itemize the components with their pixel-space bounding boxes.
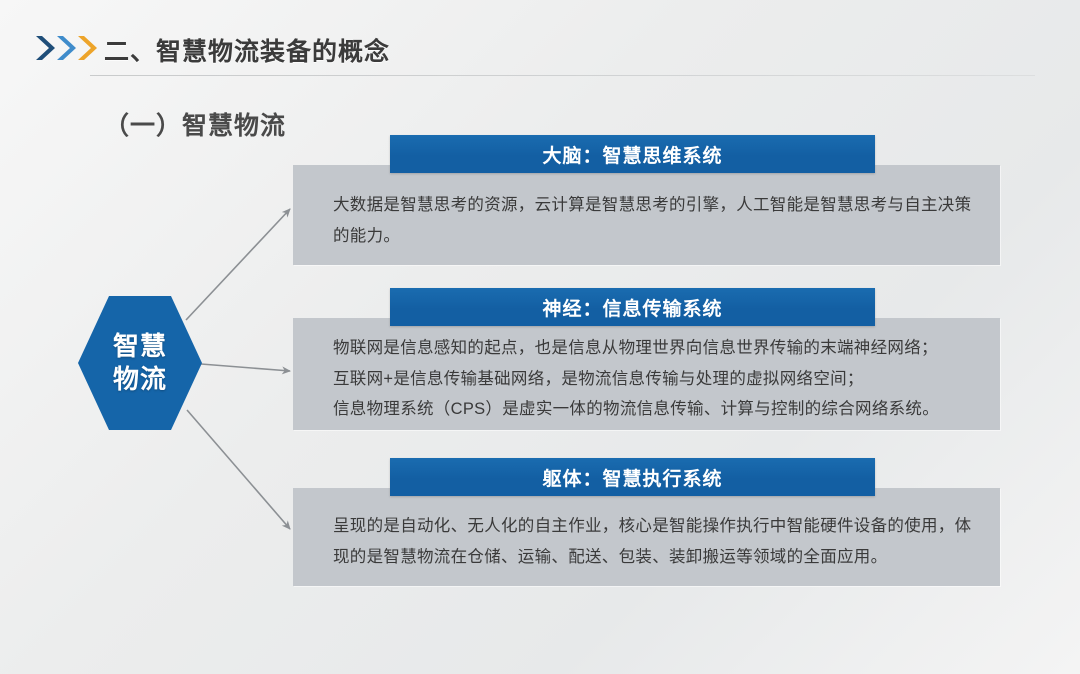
panel-header-title[interactable]: 神经：信息传输系统 xyxy=(390,288,875,326)
header-divider xyxy=(90,75,1035,76)
panel-description: 物联网是信息感知的起点，也是信息从物理世界向信息世界传输的末端神经网络； 互联网… xyxy=(333,333,993,425)
panel-header-title[interactable]: 躯体：智慧执行系统 xyxy=(390,458,875,496)
slide-header: 二、智慧物流装备的概念 xyxy=(0,0,1080,90)
chevron-group-icon xyxy=(34,34,100,62)
hexagon-label-line1: 智慧 xyxy=(113,330,167,363)
hexagon-node[interactable]: 智慧 物流 xyxy=(78,296,202,430)
hexagon-label: 智慧 物流 xyxy=(78,296,202,430)
panel-header-title[interactable]: 大脑：智慧思维系统 xyxy=(390,135,875,173)
section-subtitle: （一）智慧物流 xyxy=(104,106,286,142)
chevron-right-icon-2 xyxy=(55,34,77,62)
hexagon-label-line2: 物流 xyxy=(113,363,167,396)
chevron-right-icon-3 xyxy=(76,34,98,62)
slide-canvas: 二、智慧物流装备的概念 （一）智慧物流 智慧 物流 大脑：智慧思维系统 大数据是… xyxy=(0,0,1080,674)
chevron-right-icon-1 xyxy=(34,34,56,62)
arrow-to-panel-2 xyxy=(201,364,290,371)
panel-text-line: 互联网+是信息传输基础网络，是物流信息传输与处理的虚拟网络空间； xyxy=(333,364,993,395)
panel-text-line: 呈现的是自动化、无人化的自主作业，核心是智能操作执行中智能硬件设备的使用，体现的… xyxy=(333,511,988,572)
panel-description: 大数据是智慧思考的资源，云计算是智慧思考的引擎，人工智能是智慧思考与自主决策的能… xyxy=(333,190,983,251)
panel-text-line: 物联网是信息感知的起点，也是信息从物理世界向信息世界传输的末端神经网络； xyxy=(333,333,993,364)
arrow-to-panel-3 xyxy=(187,410,290,529)
panel-text-line: 大数据是智慧思考的资源，云计算是智慧思考的引擎，人工智能是智慧思考与自主决策的能… xyxy=(333,190,983,251)
panel-text-line: 信息物理系统（CPS）是虚实一体的物流信息传输、计算与控制的综合网络系统。 xyxy=(333,394,993,425)
page-title: 二、智慧物流装备的概念 xyxy=(104,32,390,68)
panel-description: 呈现的是自动化、无人化的自主作业，核心是智能操作执行中智能硬件设备的使用，体现的… xyxy=(333,511,988,572)
